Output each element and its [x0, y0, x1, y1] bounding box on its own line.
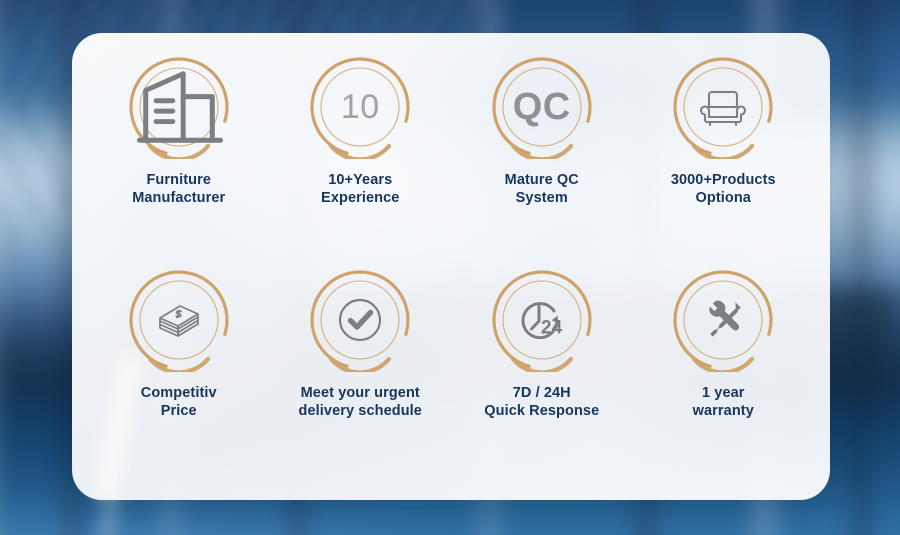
check-circle-icon — [332, 292, 388, 348]
feature-item-years-experience[interactable]: 10 10+Years Experience — [270, 55, 452, 268]
qc-letters-icon: QC — [513, 88, 571, 126]
badge-competitive-price — [127, 268, 231, 372]
feature-grid: Furniture Manufacturer 10 10+Years Exper… — [72, 33, 830, 500]
badge-years-experience: 10 — [308, 55, 412, 159]
feature-caption: 1 year warranty — [693, 384, 754, 421]
badge-mature-qc-system: QC — [490, 55, 594, 159]
badge-one-year-warranty — [671, 268, 775, 372]
icon-container — [127, 268, 231, 372]
badge-delivery-schedule — [308, 268, 412, 372]
badge-furniture-manufacturer — [127, 55, 231, 159]
feature-item-competitive-price[interactable]: Competitiv Price — [88, 268, 270, 481]
icon-container — [308, 268, 412, 372]
wrench-screwdriver-icon — [697, 294, 749, 346]
feature-caption: 7D / 24H Quick Response — [484, 384, 599, 421]
feature-caption: 10+Years Experience — [321, 171, 399, 208]
svg-text:24: 24 — [541, 317, 563, 338]
factory-building-icon — [127, 55, 231, 159]
feature-item-furniture-manufacturer[interactable]: Furniture Manufacturer — [88, 55, 270, 268]
badge-products-optional — [671, 55, 775, 159]
armchair-sofa-icon — [696, 80, 750, 134]
icon-container: 24 — [490, 268, 594, 372]
clock-24h-icon: 24 — [513, 291, 571, 349]
features-card: Furniture Manufacturer 10 10+Years Exper… — [72, 33, 830, 500]
icon-container: QC — [490, 55, 594, 159]
icon-container — [127, 55, 231, 159]
feature-caption: Furniture Manufacturer — [132, 171, 225, 208]
feature-caption: Competitiv Price — [141, 384, 217, 421]
feature-item-quick-response[interactable]: 24 7D / 24H Quick Response — [451, 268, 633, 481]
icon-container: 10 — [308, 55, 412, 159]
icon-container — [671, 55, 775, 159]
feature-caption: 3000+Products Optiona — [671, 171, 776, 208]
icon-container — [671, 268, 775, 372]
feature-caption: Meet your urgent delivery schedule — [299, 384, 422, 421]
badge-quick-response: 24 — [490, 268, 594, 372]
feature-caption: Mature QC System — [505, 171, 579, 208]
feature-item-products-optional[interactable]: 3000+Products Optiona — [633, 55, 815, 268]
page-root: Furniture Manufacturer 10 10+Years Exper… — [0, 0, 900, 535]
number-10-icon: 10 — [341, 90, 380, 124]
feature-item-one-year-warranty[interactable]: 1 year warranty — [633, 268, 815, 481]
feature-item-delivery-schedule[interactable]: Meet your urgent delivery schedule — [270, 268, 452, 481]
money-stack-icon — [153, 294, 205, 346]
feature-item-mature-qc-system[interactable]: QC Mature QC System — [451, 55, 633, 268]
